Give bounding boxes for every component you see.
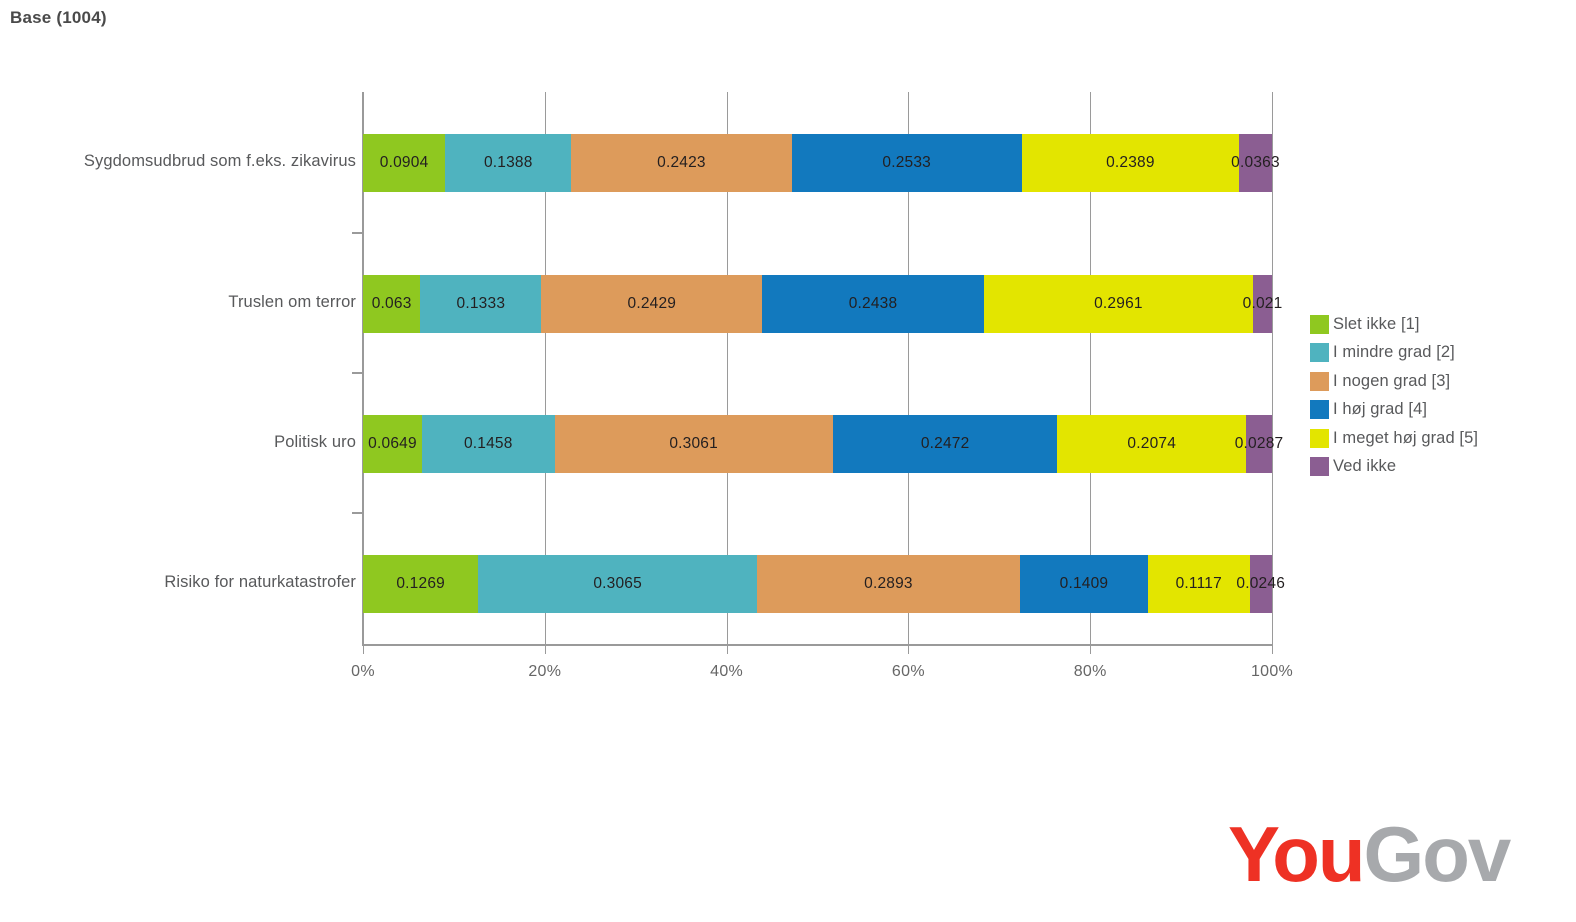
bar-segment-value-label: 0.1333 xyxy=(457,295,506,313)
bar-segment-value-label: 0.2429 xyxy=(628,295,677,313)
legend-item[interactable]: Ved ikke xyxy=(1310,453,1478,482)
legend-label: I høj grad [4] xyxy=(1333,400,1427,419)
legend-color-swatch xyxy=(1310,457,1329,476)
bar-row: 0.06490.14580.30610.24720.20740.0287 xyxy=(363,415,1272,473)
legend-color-swatch xyxy=(1310,429,1329,448)
gridline xyxy=(1272,92,1273,645)
bar-segment[interactable]: 0.0287 xyxy=(1246,415,1272,473)
bar-segment[interactable]: 0.1333 xyxy=(420,275,541,333)
legend-label: I nogen grad [3] xyxy=(1333,372,1450,391)
y-axis-tick xyxy=(352,512,363,514)
legend-item[interactable]: I nogen grad [3] xyxy=(1310,367,1478,396)
bar-segment-value-label: 0.1458 xyxy=(464,435,513,453)
legend-label: Slet ikke [1] xyxy=(1333,315,1420,334)
logo-gov: Gov xyxy=(1364,810,1510,898)
x-axis-tick-label: 20% xyxy=(528,663,561,681)
legend-label: I mindre grad [2] xyxy=(1333,343,1455,362)
bar-segment[interactable]: 0.2472 xyxy=(833,415,1058,473)
bar-segment[interactable]: 0.2423 xyxy=(571,134,791,192)
y-axis-tick xyxy=(352,232,363,234)
bar-segment[interactable]: 0.1409 xyxy=(1020,555,1148,613)
bar-segment[interactable]: 0.0363 xyxy=(1239,134,1272,192)
y-axis-tick xyxy=(352,372,363,374)
bar-segment-value-label: 0.1269 xyxy=(396,575,445,593)
x-axis-tick-label: 40% xyxy=(710,663,743,681)
logo-you: You xyxy=(1228,810,1364,898)
bar-segment[interactable]: 0.2438 xyxy=(762,275,984,333)
bar-segment-value-label: 0.2472 xyxy=(921,435,970,453)
bar-segment-value-label: 0.1409 xyxy=(1060,575,1109,593)
legend-item[interactable]: I høj grad [4] xyxy=(1310,396,1478,425)
bar-segment[interactable]: 0.2533 xyxy=(792,134,1022,192)
legend-label: Ved ikke xyxy=(1333,457,1396,476)
x-axis-tick-label: 60% xyxy=(892,663,925,681)
bar-segment[interactable]: 0.2961 xyxy=(984,275,1253,333)
bar-segment[interactable]: 0.3065 xyxy=(478,555,757,613)
legend-color-swatch xyxy=(1310,372,1329,391)
bar-segment-value-label: 0.1117 xyxy=(1176,575,1222,593)
bar-segment-value-label: 0.1388 xyxy=(484,154,533,172)
x-axis-tick xyxy=(545,645,546,654)
bar-segment-value-label: 0.063 xyxy=(372,295,412,313)
bar-segment[interactable]: 0.0904 xyxy=(363,134,445,192)
bar-segment[interactable]: 0.2389 xyxy=(1022,134,1239,192)
category-label: Sygdomsudbrud som f.eks. zikavirus xyxy=(84,152,356,171)
bar-segment[interactable]: 0.1269 xyxy=(363,555,478,613)
bar-segment[interactable]: 0.063 xyxy=(363,275,420,333)
bar-segment[interactable]: 0.1388 xyxy=(445,134,571,192)
bar-segment-value-label: 0.3065 xyxy=(593,575,642,593)
bar-segment[interactable]: 0.2074 xyxy=(1057,415,1246,473)
x-axis-tick-label: 100% xyxy=(1251,663,1293,681)
bar-segment-value-label: 0.0246 xyxy=(1236,575,1285,593)
bar-segment[interactable]: 0.2893 xyxy=(757,555,1020,613)
x-axis-tick-label: 80% xyxy=(1074,663,1107,681)
bar-segment-value-label: 0.0363 xyxy=(1231,154,1280,172)
bar-segment-value-label: 0.0904 xyxy=(380,154,429,172)
category-label: Risiko for naturkatastrofer xyxy=(164,573,356,592)
x-axis-tick xyxy=(1272,645,1273,654)
x-axis-tick xyxy=(1090,645,1091,654)
bar-segment-value-label: 0.2389 xyxy=(1106,154,1155,172)
legend-label: I meget høj grad [5] xyxy=(1333,429,1478,448)
legend-item[interactable]: I mindre grad [2] xyxy=(1310,339,1478,368)
x-axis-tick xyxy=(363,645,364,654)
bar-segment-value-label: 0.2423 xyxy=(657,154,706,172)
x-axis-tick xyxy=(727,645,728,654)
bar-segment-value-label: 0.2074 xyxy=(1127,435,1176,453)
bar-segment-value-label: 0.0649 xyxy=(368,435,417,453)
bar-segment[interactable]: 0.1117 xyxy=(1148,555,1250,613)
plot-area: 0.09040.13880.24230.25330.23890.03630.06… xyxy=(363,92,1272,645)
bar-segment-value-label: 0.2533 xyxy=(882,154,931,172)
bar-segment[interactable]: 0.0246 xyxy=(1250,555,1272,613)
x-axis-tick-label: 0% xyxy=(351,663,375,681)
bar-row: 0.09040.13880.24230.25330.23890.0363 xyxy=(363,134,1272,192)
bar-segment[interactable]: 0.2429 xyxy=(541,275,762,333)
bar-segment-value-label: 0.2893 xyxy=(864,575,913,593)
bar-segment-value-label: 0.2961 xyxy=(1094,295,1143,313)
legend-item[interactable]: Slet ikke [1] xyxy=(1310,310,1478,339)
bar-row: 0.12690.30650.28930.14090.11170.0246 xyxy=(363,555,1272,613)
bar-segment-value-label: 0.021 xyxy=(1243,295,1283,313)
x-axis-tick xyxy=(908,645,909,654)
bar-segment[interactable]: 0.1458 xyxy=(422,415,555,473)
yougov-logo: YouGov xyxy=(1228,815,1509,893)
bar-segment[interactable]: 0.021 xyxy=(1253,275,1272,333)
legend-color-swatch xyxy=(1310,400,1329,419)
bar-segment[interactable]: 0.0649 xyxy=(363,415,422,473)
bar-segment-value-label: 0.2438 xyxy=(849,295,898,313)
category-label: Truslen om terror xyxy=(228,293,356,312)
bar-segment[interactable]: 0.3061 xyxy=(555,415,833,473)
category-label: Politisk uro xyxy=(274,433,356,452)
legend: Slet ikke [1]I mindre grad [2]I nogen gr… xyxy=(1310,310,1478,481)
bar-row: 0.0630.13330.24290.24380.29610.021 xyxy=(363,275,1272,333)
bar-segment-value-label: 0.3061 xyxy=(669,435,718,453)
legend-item[interactable]: I meget høj grad [5] xyxy=(1310,424,1478,453)
legend-color-swatch xyxy=(1310,315,1329,334)
legend-color-swatch xyxy=(1310,343,1329,362)
bar-segment-value-label: 0.0287 xyxy=(1235,435,1284,453)
